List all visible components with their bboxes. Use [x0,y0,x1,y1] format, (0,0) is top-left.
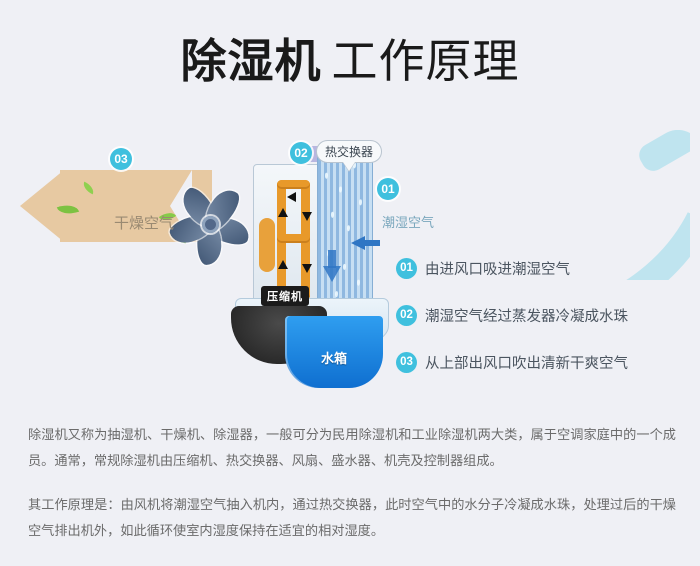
description-block: 除湿机又称为抽湿机、干燥机、除湿器，一般可分为民用除湿机和工业除湿机两大类，属于… [28,422,676,562]
dry-air-label: 干燥空气 [114,212,174,233]
heat-exchanger-callout: 热交换器 [316,140,382,163]
description-paragraph-2: 其工作原理是：由风机将潮湿空气抽入机内，通过热交换器，此时空气中的水分子冷凝成水… [28,492,676,544]
flow-arrow-up-icon [278,260,288,269]
dehumidifier-unit: 水箱 压缩机 [243,138,393,388]
flow-arrow-down-icon [302,264,312,273]
fan-hub [202,216,219,233]
flow-arrow-left-icon [287,192,296,202]
air-inlet-arrow-tail [364,240,380,246]
legend-item: 03 从上部出风口吹出清新干爽空气 [396,352,686,373]
legend-badge: 01 [396,258,417,279]
legend-list: 01 由进风口吸进潮湿空气 02 潮湿空气经过蒸发器冷凝成水珠 03 从上部出风… [396,258,686,399]
flow-arrow-down-icon [302,212,312,221]
water-tank-label: 水箱 [295,348,373,367]
legend-item: 02 潮湿空气经过蒸发器冷凝成水珠 [396,305,686,326]
legend-badge: 02 [396,305,417,326]
diagram-badge-01: 01 [377,178,399,200]
humid-air-label: 潮湿空气 [382,212,434,231]
legend-item: 01 由进风口吸进潮湿空气 [396,258,686,279]
compressor-label: 压缩机 [261,286,309,306]
legend-text: 从上部出风口吹出清新干爽空气 [425,352,628,373]
accumulator [259,218,275,272]
diagram-badge-02: 02 [290,142,312,164]
description-paragraph-1: 除湿机又称为抽湿机、干燥机、除湿器，一般可分为民用除湿机和工业除湿机两大类，属于… [28,422,676,474]
legend-text: 潮湿空气经过蒸发器冷凝成水珠 [425,305,628,326]
legend-badge: 03 [396,352,417,373]
page-title-light: 工作原理 [332,35,520,87]
page-title: 除湿机工作原理 [0,32,700,90]
legend-text: 由进风口吸进潮湿空气 [425,258,570,279]
air-inlet-arrow-icon [351,236,365,250]
infographic-page: 除湿机工作原理 [0,0,700,566]
flow-arrow-up-icon [278,208,288,217]
diagram-badge-03: 03 [110,148,132,170]
condensation-droplets [317,148,371,315]
humid-air-flow-tip [635,130,690,175]
page-title-bold: 除湿机 [181,35,322,87]
coil-tube [277,234,310,243]
water-drain-arrow-icon [323,266,341,282]
coil-tube [277,180,310,189]
